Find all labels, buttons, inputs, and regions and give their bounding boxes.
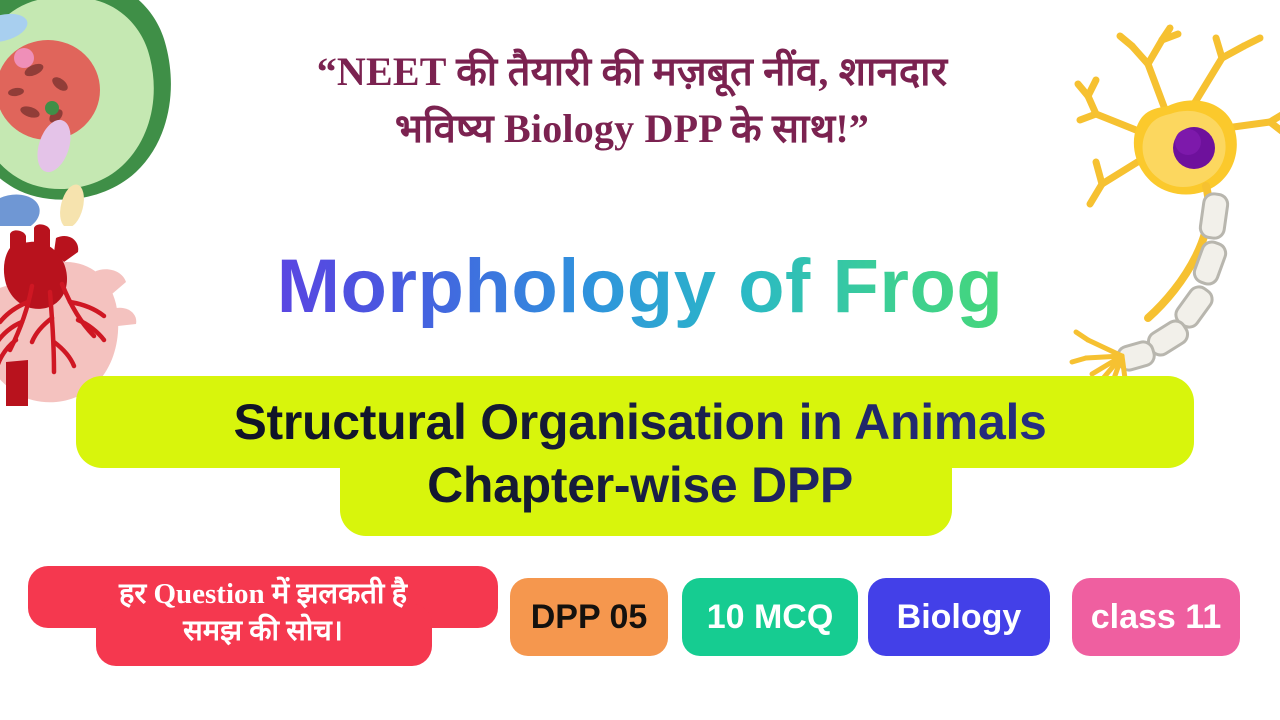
dpp-thumbnail-canvas: “NEET की तैयारी की मज़बूत नींव, शानदार भव… bbox=[0, 0, 1280, 720]
subject-badge: Biology bbox=[868, 578, 1050, 656]
class-badge: class 11 bbox=[1072, 578, 1240, 656]
badge-row: हर Question में झलकती है समझ की सोच। DPP… bbox=[0, 566, 1280, 686]
dpp-number-badge: DPP 05 bbox=[510, 578, 668, 656]
hindi-headline-line-2: भविष्य Biology DPP के साथ!” bbox=[132, 101, 1132, 158]
banner-line-1: Structural Organisation in Animals bbox=[0, 393, 1280, 451]
tagline-badge: हर Question में झलकती है समझ की सोच। bbox=[28, 566, 498, 666]
tagline-line-1: हर Question में झलकती है bbox=[28, 573, 498, 612]
tagline-line-2: समझ की सोच। bbox=[28, 610, 498, 649]
hindi-headline-line-1: “NEET की तैयारी की मज़बूत नींव, शानदार bbox=[132, 44, 1132, 101]
hindi-headline: “NEET की तैयारी की मज़बूत नींव, शानदार भव… bbox=[132, 44, 1132, 158]
page-title: Morphology of Frog bbox=[0, 243, 1280, 330]
chapter-banner: Structural Organisation in Animals Chapt… bbox=[0, 376, 1280, 552]
banner-line-2: Chapter-wise DPP bbox=[0, 456, 1280, 514]
question-count-badge: 10 MCQ bbox=[682, 578, 858, 656]
